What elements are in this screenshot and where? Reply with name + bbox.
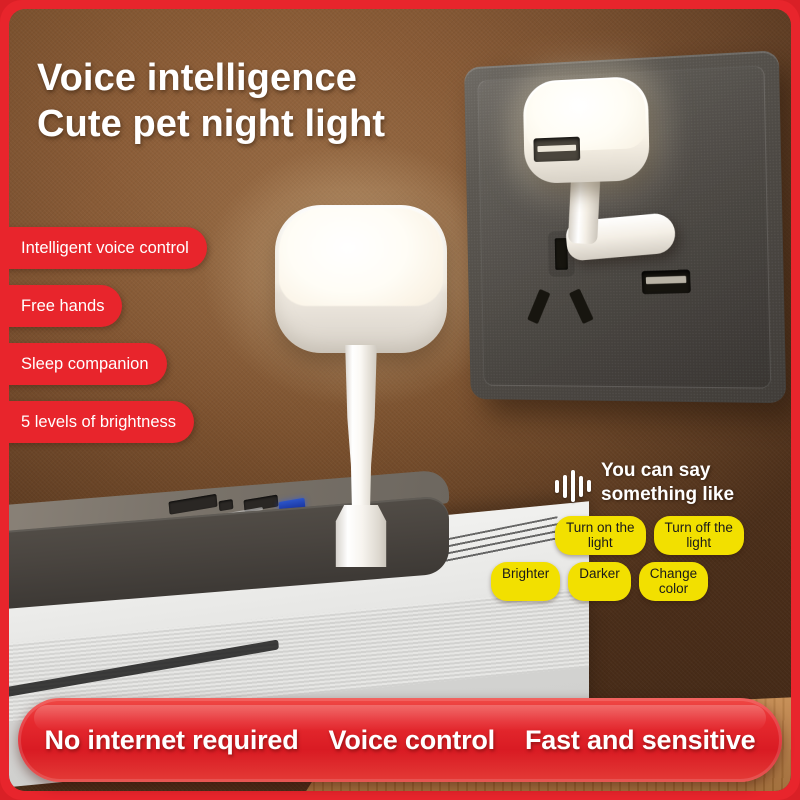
voice-command-section: You can say something like Turn on the l… <box>555 459 791 601</box>
product-scene: Voice intelligence Cute pet night light … <box>9 9 791 791</box>
voice-waveform-icon <box>555 459 591 509</box>
voice-section-title: You can say something like <box>601 459 734 506</box>
book-printed-text <box>438 516 560 566</box>
feature-badge: Intelligent voice control <box>9 227 207 269</box>
socket-usb-port <box>642 270 691 295</box>
banner-item: Voice control <box>329 725 495 756</box>
feature-badge: 5 levels of brightness <box>9 401 194 443</box>
voice-command-chip: Turn on the light <box>555 516 646 555</box>
waveform-bar <box>571 470 575 502</box>
waveform-bar <box>579 476 583 497</box>
voice-section-header: You can say something like <box>555 459 791 509</box>
night-light-neck <box>343 345 379 527</box>
night-light-head <box>275 205 447 353</box>
voice-command-chip: Brighter <box>491 562 560 601</box>
voice-command-chip: Change color <box>639 562 708 601</box>
banner-item: No internet required <box>45 725 299 756</box>
night-light-diffuser <box>279 208 443 306</box>
waveform-bar <box>587 480 591 492</box>
voice-command-chip: Turn off the light <box>654 516 744 555</box>
wall-socket-panel <box>464 50 786 403</box>
night-light-usb-base <box>331 505 391 567</box>
page-title: Voice intelligence Cute pet night light <box>37 55 385 148</box>
voice-command-chip: Darker <box>568 562 631 601</box>
voice-command-chips-row-1: Turn on the light Turn off the light <box>555 516 791 555</box>
plugged-light-neck <box>568 172 601 245</box>
plugged-light-usb-port <box>533 137 580 162</box>
waveform-bar <box>555 480 559 493</box>
waveform-bar <box>563 475 567 498</box>
bottom-feature-banner: No internet required Voice control Fast … <box>18 698 782 782</box>
voice-command-chips-row-2: Brighter Darker Change color <box>491 562 791 601</box>
power-strip-socket-slot <box>219 499 234 511</box>
banner-item: Fast and sensitive <box>525 725 756 756</box>
feature-badge: Sleep companion <box>9 343 167 385</box>
power-strip-socket-slot <box>169 494 218 515</box>
product-advertisement-poster: Voice intelligence Cute pet night light … <box>0 0 800 800</box>
usb-night-light-product <box>275 205 447 565</box>
plugged-light-head <box>523 76 650 184</box>
feature-badge: Free hands <box>9 285 122 327</box>
feature-badge-list: Intelligent voice control Free hands Sle… <box>9 227 234 459</box>
